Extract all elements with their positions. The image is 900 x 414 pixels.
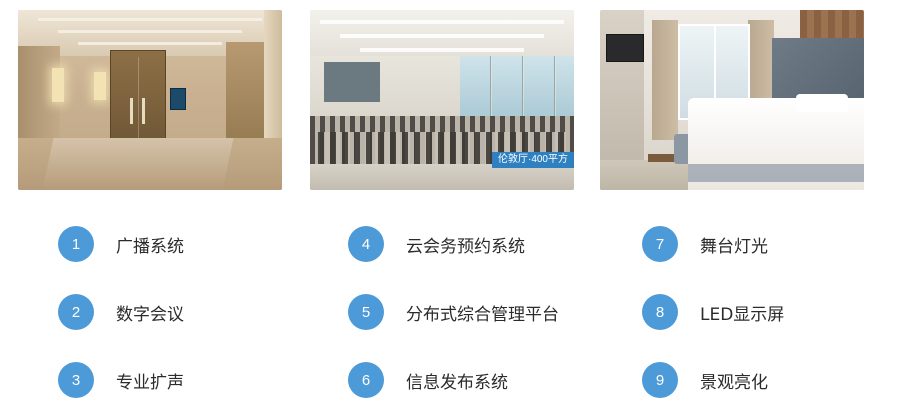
item-label: 广播系统 — [116, 232, 184, 257]
wall-lamp — [94, 72, 106, 100]
ceiling-light-strip — [38, 18, 262, 21]
ceiling-beam — [360, 48, 524, 52]
item-number-badge: 3 — [58, 362, 94, 398]
list-item: 7 舞台灯光 — [600, 210, 900, 278]
pillow — [796, 94, 848, 112]
item-number-badge: 2 — [58, 294, 94, 330]
television — [606, 34, 644, 62]
wall-lamp — [52, 68, 64, 102]
door-handle — [142, 98, 145, 124]
feature-list: 1 广播系统 4 云会务预约系统 7 舞台灯光 2 数字会议 5 分布式综合管理… — [0, 210, 900, 414]
bed-runner — [688, 164, 864, 182]
item-number-badge: 7 — [642, 226, 678, 262]
ceiling-beam — [340, 34, 544, 38]
item-label: 云会务预约系统 — [406, 232, 525, 257]
window — [556, 56, 574, 120]
list-item: 9 景观亮化 — [600, 346, 900, 414]
curtain-left — [652, 20, 678, 140]
item-label: 信息发布系统 — [406, 368, 508, 393]
list-item: 4 云会务预约系统 — [300, 210, 600, 278]
window — [524, 56, 555, 120]
item-number-badge: 4 — [348, 226, 384, 262]
ceiling-light-strip — [58, 30, 242, 33]
list-item: 1 广播系统 — [0, 210, 300, 278]
window — [492, 56, 523, 120]
item-number-badge: 1 — [58, 226, 94, 262]
elevator-call-panel — [170, 88, 186, 110]
item-label: 数字会议 — [116, 300, 184, 325]
list-item: 8 LED显示屏 — [600, 278, 900, 346]
photo-hotel-corridor-elevator-lobby — [18, 10, 282, 190]
ceiling-light-strip — [78, 42, 222, 45]
item-number-badge: 8 — [642, 294, 678, 330]
item-label: 舞台灯光 — [700, 232, 768, 257]
projection-screen — [324, 62, 380, 102]
photo-row: 伦敦厅·400平方 — [0, 0, 900, 200]
item-label: 专业扩声 — [116, 368, 184, 393]
list-item: 3 专业扩声 — [0, 346, 300, 414]
list-item: 2 数字会议 — [0, 278, 300, 346]
photo-conference-hall-seating: 伦敦厅·400平方 — [310, 10, 574, 190]
ceiling-beam — [320, 20, 564, 24]
list-item: 5 分布式综合管理平台 — [300, 278, 600, 346]
floor-reflection — [42, 138, 233, 190]
item-number-badge: 6 — [348, 362, 384, 398]
photo-hotel-guest-room — [600, 10, 864, 190]
item-label: 景观亮化 — [700, 368, 768, 393]
door-handle — [130, 98, 133, 124]
page-root: 伦敦厅·400平方 1 广播系统 4 云会务预约系统 — [0, 0, 900, 414]
window — [460, 56, 491, 120]
item-number-badge: 5 — [348, 294, 384, 330]
list-item: 6 信息发布系统 — [300, 346, 600, 414]
item-label: 分布式综合管理平台 — [406, 300, 559, 325]
item-number-badge: 9 — [642, 362, 678, 398]
item-label: LED显示屏 — [700, 300, 784, 325]
photo-caption: 伦敦厅·400平方 — [492, 152, 574, 168]
